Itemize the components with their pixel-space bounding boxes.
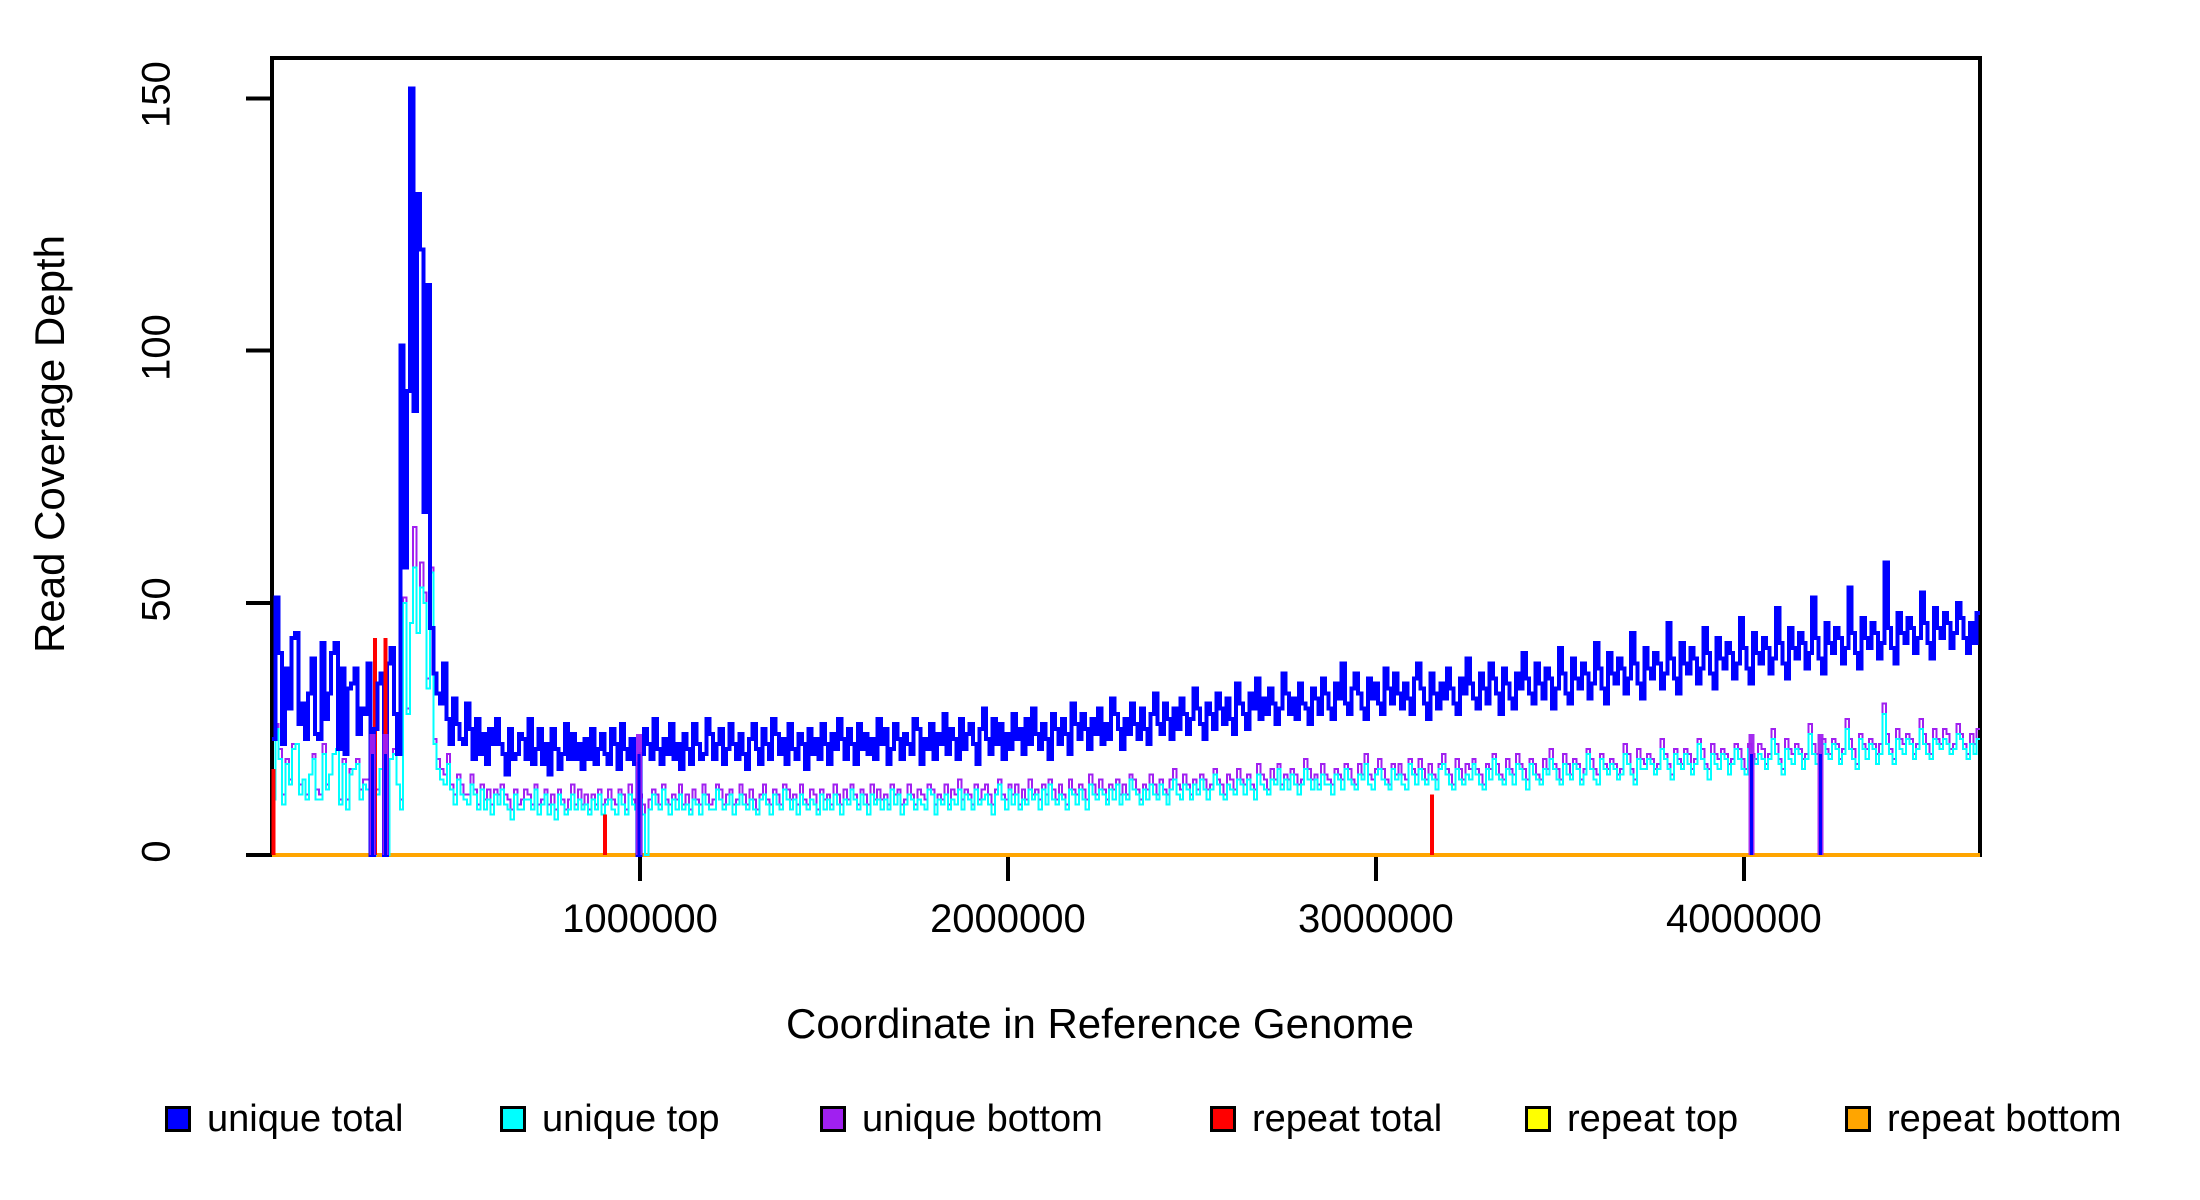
legend-item[interactable]: unique bottom <box>820 1096 1103 1142</box>
legend-item[interactable]: unique top <box>500 1096 720 1142</box>
x-axis-title: Coordinate in Reference Genome <box>0 1000 2200 1048</box>
legend-label: repeat bottom <box>1887 1100 2121 1138</box>
legend-color-swatch <box>500 1106 526 1132</box>
legend-label: repeat top <box>1567 1100 1738 1138</box>
series-unique-bottom <box>272 527 1980 855</box>
legend-color-swatch <box>1210 1106 1236 1132</box>
legend-label: unique bottom <box>862 1100 1103 1138</box>
legend-color-swatch <box>820 1106 846 1132</box>
legend-item[interactable]: repeat total <box>1210 1096 1442 1142</box>
series-step-line <box>272 88 1980 855</box>
series-step-line <box>272 568 1980 856</box>
legend-color-swatch <box>165 1106 191 1132</box>
coverage-plot-figure: Read Coverage Depth 050100150 1000000200… <box>0 0 2200 1200</box>
legend-item[interactable]: repeat bottom <box>1845 1096 2121 1142</box>
legend-color-swatch <box>1525 1106 1551 1132</box>
legend-label: unique total <box>207 1100 404 1138</box>
series-unique-total <box>272 88 1980 855</box>
legend-label: unique top <box>542 1100 720 1138</box>
legend-item[interactable]: repeat top <box>1525 1096 1738 1142</box>
legend-color-swatch <box>1845 1106 1871 1132</box>
series-unique-top <box>272 568 1980 856</box>
legend-item[interactable]: unique total <box>165 1096 404 1142</box>
series-step-line <box>272 527 1980 855</box>
legend-label: repeat total <box>1252 1100 1442 1138</box>
chart-legend: unique totalunique topunique bottomrepea… <box>0 1096 2200 1156</box>
